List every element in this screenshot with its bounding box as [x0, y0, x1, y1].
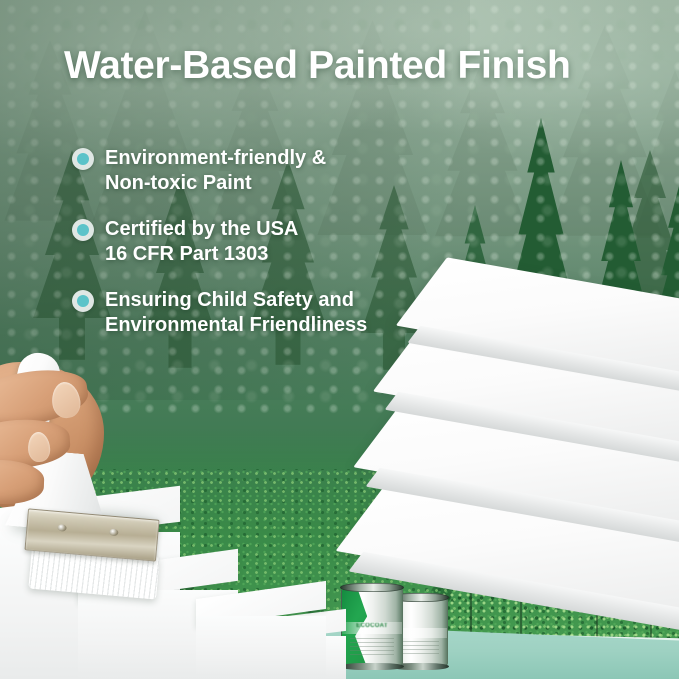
page-title: Water-Based Painted Finish: [64, 44, 571, 88]
list-item: Environment-friendly & Non-toxic Paint: [72, 146, 472, 196]
feature-line-2: Environmental Friendliness: [105, 314, 367, 336]
white-block: [196, 590, 326, 679]
feature-text: Environment-friendly & Non-toxic Paint: [105, 146, 326, 196]
feature-text: Certified by the USA 16 CFR Part 1303: [105, 217, 298, 267]
feature-line-1: Environment-friendly &: [105, 147, 326, 169]
product-feature-banner: Water-Based Painted Finish Environment-f…: [0, 0, 679, 679]
circle-dot-bullet-icon: [72, 219, 94, 241]
feature-text: Ensuring Child Safety and Environmental …: [105, 288, 367, 338]
circle-dot-bullet-icon: [72, 290, 94, 312]
list-item: Certified by the USA 16 CFR Part 1303: [72, 217, 472, 267]
paint-can-label: ECOCOAT: [346, 623, 399, 629]
paint-can-large: ECOCOAT: [341, 588, 403, 666]
feature-line-2: Non-toxic Paint: [105, 172, 252, 194]
feature-line-2: 16 CFR Part 1303: [105, 243, 268, 265]
circle-dot-bullet-icon: [72, 148, 94, 170]
feature-line-1: Certified by the USA: [105, 218, 298, 240]
feature-line-1: Ensuring Child Safety and: [105, 289, 354, 311]
